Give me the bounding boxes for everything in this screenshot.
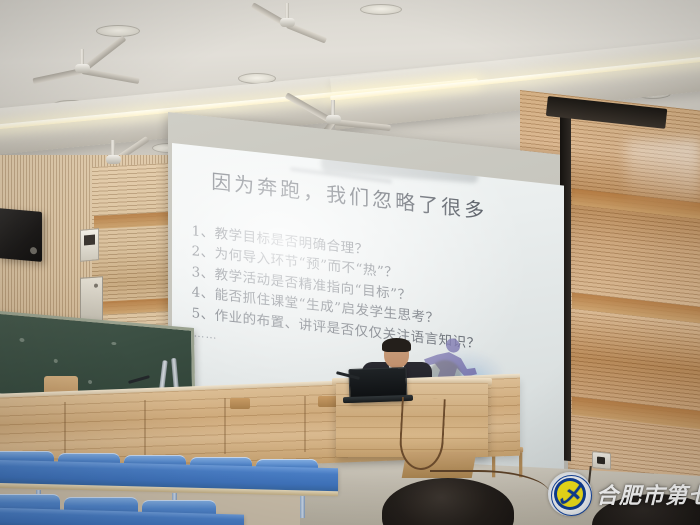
crest-glyph: 乄: [548, 472, 592, 516]
fan-rod: [80, 49, 84, 65]
stage-block: [318, 396, 338, 407]
fan-hub: [106, 155, 121, 164]
stage-seam: [144, 400, 146, 456]
presenter-hair: [382, 338, 411, 352]
chalk-mark: [88, 380, 92, 384]
fan-rod: [331, 100, 335, 116]
fan-hub: [280, 18, 295, 27]
chalk-mark: [19, 338, 24, 342]
ceiling-fan-2: [232, 4, 342, 40]
wall-control-panel[interactable]: [80, 228, 99, 262]
wall-speaker: [0, 208, 42, 262]
fan-hub: [326, 115, 341, 124]
fan-blade: [333, 119, 391, 131]
fan-hub: [75, 64, 90, 73]
watermark-text: 合肥市第七中学: [596, 478, 700, 510]
downlight-7: [360, 4, 402, 15]
fan-rod: [285, 3, 289, 19]
fan-blade: [81, 68, 139, 84]
stage-seam: [64, 402, 66, 458]
stage-seam: [304, 396, 306, 452]
window-glare: [626, 140, 700, 200]
lecture-hall-photo: 因为奔跑，我们忽略了很多 1、教学目标是否明确合理？ 2、为何导入环节“预”而不…: [0, 0, 700, 525]
desk-leg: [300, 496, 305, 518]
ceiling-fan-1: [22, 48, 142, 88]
downlight-1: [96, 25, 140, 37]
stage-seam: [224, 398, 226, 454]
school-crest-icon: 乄: [548, 472, 592, 516]
chalk-mark: [111, 342, 116, 345]
watermark: 乄 合肥市第七中学: [548, 468, 698, 520]
stage-block: [230, 398, 250, 409]
chalk-mark: [54, 359, 58, 363]
fan-rod: [111, 140, 115, 156]
slide-ellipsis: ……: [194, 326, 218, 342]
